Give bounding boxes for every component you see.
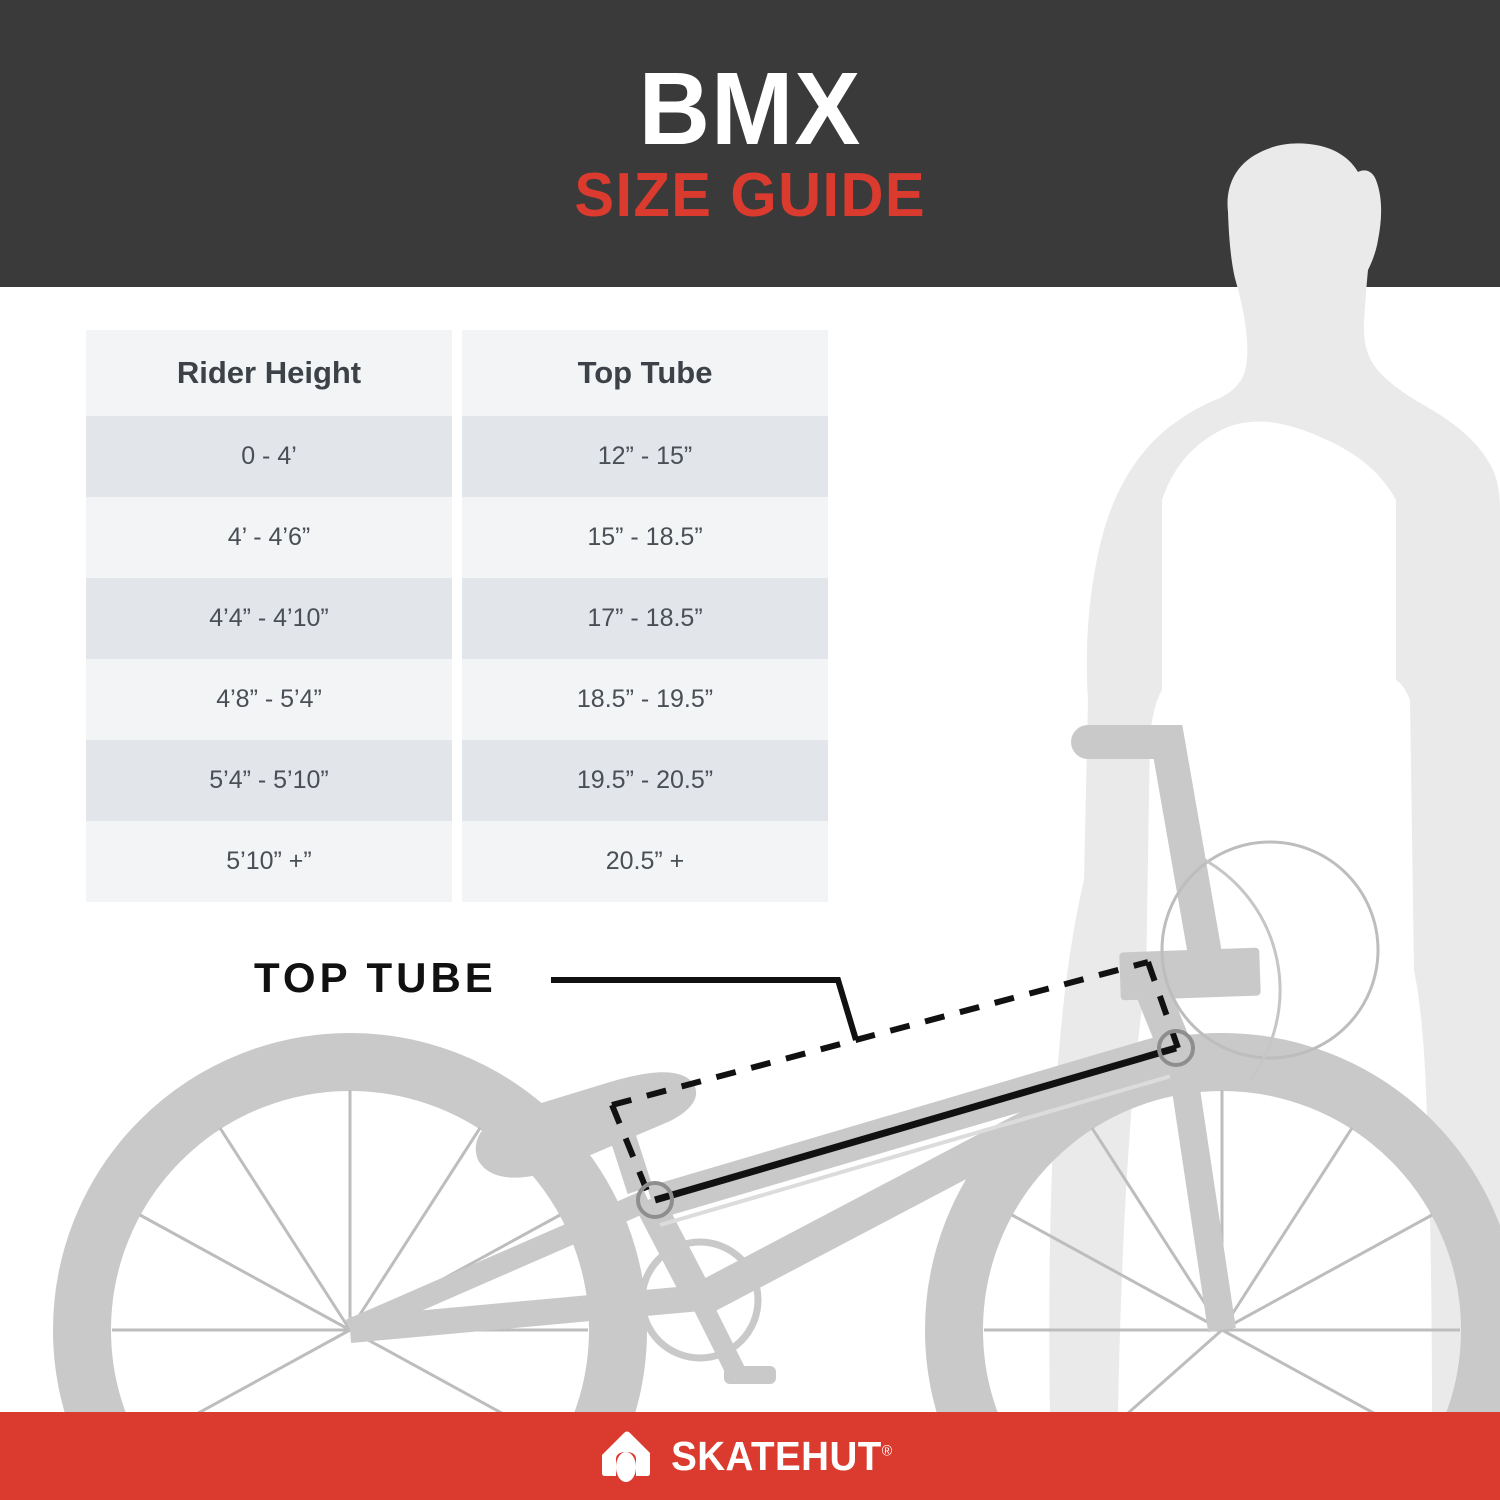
hut-icon — [600, 1429, 652, 1483]
table-row: 15” - 18.5” — [462, 497, 828, 578]
column-header: Top Tube — [462, 330, 828, 416]
registered-mark: ® — [882, 1442, 893, 1459]
table-row: 5’4” - 5’10” — [86, 740, 452, 821]
table-column-rider-height: Rider Height 0 - 4’ 4’ - 4’6” 4’4” - 4’1… — [86, 330, 452, 902]
top-tube-callout-label: TOP TUBE — [254, 954, 497, 1002]
table-row: 0 - 4’ — [86, 416, 452, 497]
callout-leader-line — [551, 980, 856, 1040]
brand-name: SKATEHUT® — [671, 1433, 893, 1480]
brand-logo[interactable]: SKATEHUT® — [600, 1429, 900, 1483]
table-row: 17” - 18.5” — [462, 578, 828, 659]
table-row: 20.5” + — [462, 821, 828, 902]
brand-label: SKATEHUT — [671, 1433, 882, 1479]
table-row: 5’10” +” — [86, 821, 452, 902]
infographic-page: BMX SIZE GUIDE — [0, 0, 1500, 1500]
table-row: 19.5” - 20.5” — [462, 740, 828, 821]
table-column-top-tube: Top Tube 12” - 15” 15” - 18.5” 17” - 18.… — [462, 330, 828, 902]
table-row: 12” - 15” — [462, 416, 828, 497]
footer-band: SKATEHUT® — [0, 1412, 1500, 1500]
table-row: 4’ - 4’6” — [86, 497, 452, 578]
size-table: Rider Height 0 - 4’ 4’ - 4’6” 4’4” - 4’1… — [86, 330, 828, 902]
column-header: Rider Height — [86, 330, 452, 416]
dashed-guide-lines — [612, 962, 1178, 1203]
table-row: 4’4” - 4’10” — [86, 578, 452, 659]
table-row: 18.5” - 19.5” — [462, 659, 828, 740]
table-row: 4’8” - 5’4” — [86, 659, 452, 740]
